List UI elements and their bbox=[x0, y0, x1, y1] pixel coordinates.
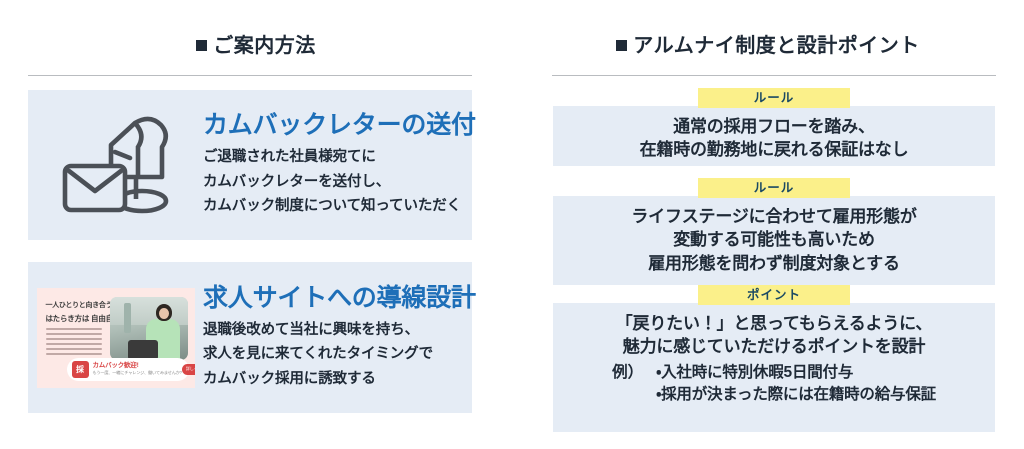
thumbnail-photo bbox=[110, 297, 188, 360]
rule-box-1-content: 通常の採用フローを踏み、 在籍時の勤務地に戻れる保証はなし bbox=[553, 106, 995, 166]
left-panel: ご案内方法 カムバックレターの送付 bbox=[0, 0, 512, 449]
square-bullet-icon bbox=[196, 40, 207, 51]
mailbox-envelope-icon bbox=[57, 111, 175, 219]
rule-line: ライフステージに合わせて雇用形態が bbox=[563, 205, 985, 228]
right-panel: アルムナイ制度と設計ポイント ルール 通常の採用フローを踏み、 在籍時の勤務地に… bbox=[512, 0, 1024, 449]
recruit-site-thumbnail: 一人ひとりと向き合う仕事 はたらき方は 自由自在 採 bbox=[37, 288, 195, 388]
right-panel-heading-text: アルムナイ制度と設計ポイント bbox=[633, 35, 919, 57]
thumbnail-banner-badge: 採 bbox=[72, 361, 89, 378]
slide-root: ご案内方法 カムバックレターの送付 bbox=[0, 0, 1024, 449]
card-line: ご退職された社員様宛てに bbox=[203, 145, 476, 169]
square-bullet-icon bbox=[616, 40, 627, 51]
left-panel-heading-text: ご案内方法 bbox=[213, 35, 316, 57]
card-callback-letter[interactable]: カムバックレターの送付 ご退職された社員様宛てに カムバックレターを送付し、 カ… bbox=[28, 90, 472, 240]
example-item: ・採用が決まった際には在籍時の給与保証 bbox=[656, 384, 936, 406]
point-badge: ポイント bbox=[698, 285, 850, 305]
example-items: ・入社時に特別休暇5日間付与 ・採用が決まった際には在籍時の給与保証 bbox=[656, 362, 936, 406]
thumbnail-banner: 採 カムバック歓迎! もう一度、一緒にチャレンジ、働いてみませんか? 詳しくはこ… bbox=[67, 358, 189, 381]
rule-line: 変動する可能性も高いため bbox=[563, 228, 985, 251]
rule-badge: ルール bbox=[698, 88, 850, 108]
rule-box-2-content: ライフステージに合わせて雇用形態が 変動する可能性も高いため 雇用形態を問わず制… bbox=[553, 196, 995, 285]
card-title: 求人サイトへの導線設計 bbox=[203, 284, 476, 312]
rule-badge: ルール bbox=[698, 178, 850, 198]
point-box-3-content: 「戻りたい！」と思ってもらえるように、 魅力に感じていただけるポイントを設計 例… bbox=[553, 303, 995, 432]
card-line: カムバック採用に誘致する bbox=[203, 367, 476, 391]
rule-line: 通常の採用フローを踏み、 bbox=[563, 115, 985, 138]
thumbnail-banner-button: 詳しくはこちら bbox=[182, 364, 195, 375]
card-line: 求人を見に来てくれたタイミングで bbox=[203, 342, 476, 366]
card-line: カムバック制度について知っていただく bbox=[203, 194, 476, 218]
rule-line: 在籍時の勤務地に戻れる保証はなし bbox=[563, 138, 985, 161]
card-title: カムバックレターの送付 bbox=[203, 111, 476, 139]
right-panel-heading: アルムナイ制度と設計ポイント bbox=[512, 0, 1024, 56]
rule-line: 雇用形態を問わず制度対象とする bbox=[563, 252, 985, 275]
thumbnail-banner-texts: カムバック歓迎! もう一度、一緒にチャレンジ、働いてみませんか? bbox=[89, 362, 182, 375]
thumbnail-banner-sub: もう一度、一緒にチャレンジ、働いてみませんか? bbox=[93, 370, 182, 375]
point-box-3[interactable]: ポイント 「戻りたい！」と思ってもらえるように、 魅力に感じていただけるポイント… bbox=[553, 285, 995, 432]
left-panel-divider bbox=[28, 75, 472, 76]
card-recruit-site[interactable]: 一人ひとりと向き合う仕事 はたらき方は 自由自在 採 bbox=[28, 262, 472, 413]
example-label: 例） bbox=[612, 362, 656, 384]
card-body-callback-letter: カムバックレターの送付 ご退職された社員様宛てに カムバックレターを送付し、 カ… bbox=[203, 111, 484, 218]
card-line: カムバックレターを送付し、 bbox=[203, 170, 476, 194]
point-line: 「戻りたい！」と思ってもらえるように、 bbox=[563, 312, 985, 335]
card-body-recruit-site: 求人サイトへの導線設計 退職後改めて当社に興味を持ち、 求人を見に来てくれたタイ… bbox=[203, 284, 484, 391]
left-panel-heading: ご案内方法 bbox=[0, 0, 512, 56]
example-item: ・入社時に特別休暇5日間付与 bbox=[656, 362, 936, 384]
rule-box-2[interactable]: ルール ライフステージに合わせて雇用形態が 変動する可能性も高いため 雇用形態を… bbox=[553, 178, 995, 285]
thumbnail-body-text-lines bbox=[46, 328, 102, 359]
rule-box-1[interactable]: ルール 通常の採用フローを踏み、 在籍時の勤務地に戻れる保証はなし bbox=[553, 88, 995, 166]
thumbnail-banner-title: カムバック歓迎! bbox=[93, 362, 182, 370]
card-visual-mailbox bbox=[28, 111, 203, 219]
point-example-block: 例） ・入社時に特別休暇5日間付与 ・採用が決まった際には在籍時の給与保証 bbox=[563, 362, 985, 406]
card-line: 退職後改めて当社に興味を持ち、 bbox=[203, 318, 476, 342]
card-visual-thumbnail: 一人ひとりと向き合う仕事 はたらき方は 自由自在 採 bbox=[28, 288, 203, 388]
right-panel-divider bbox=[552, 75, 996, 76]
point-line: 魅力に感じていただけるポイントを設計 bbox=[563, 335, 985, 358]
